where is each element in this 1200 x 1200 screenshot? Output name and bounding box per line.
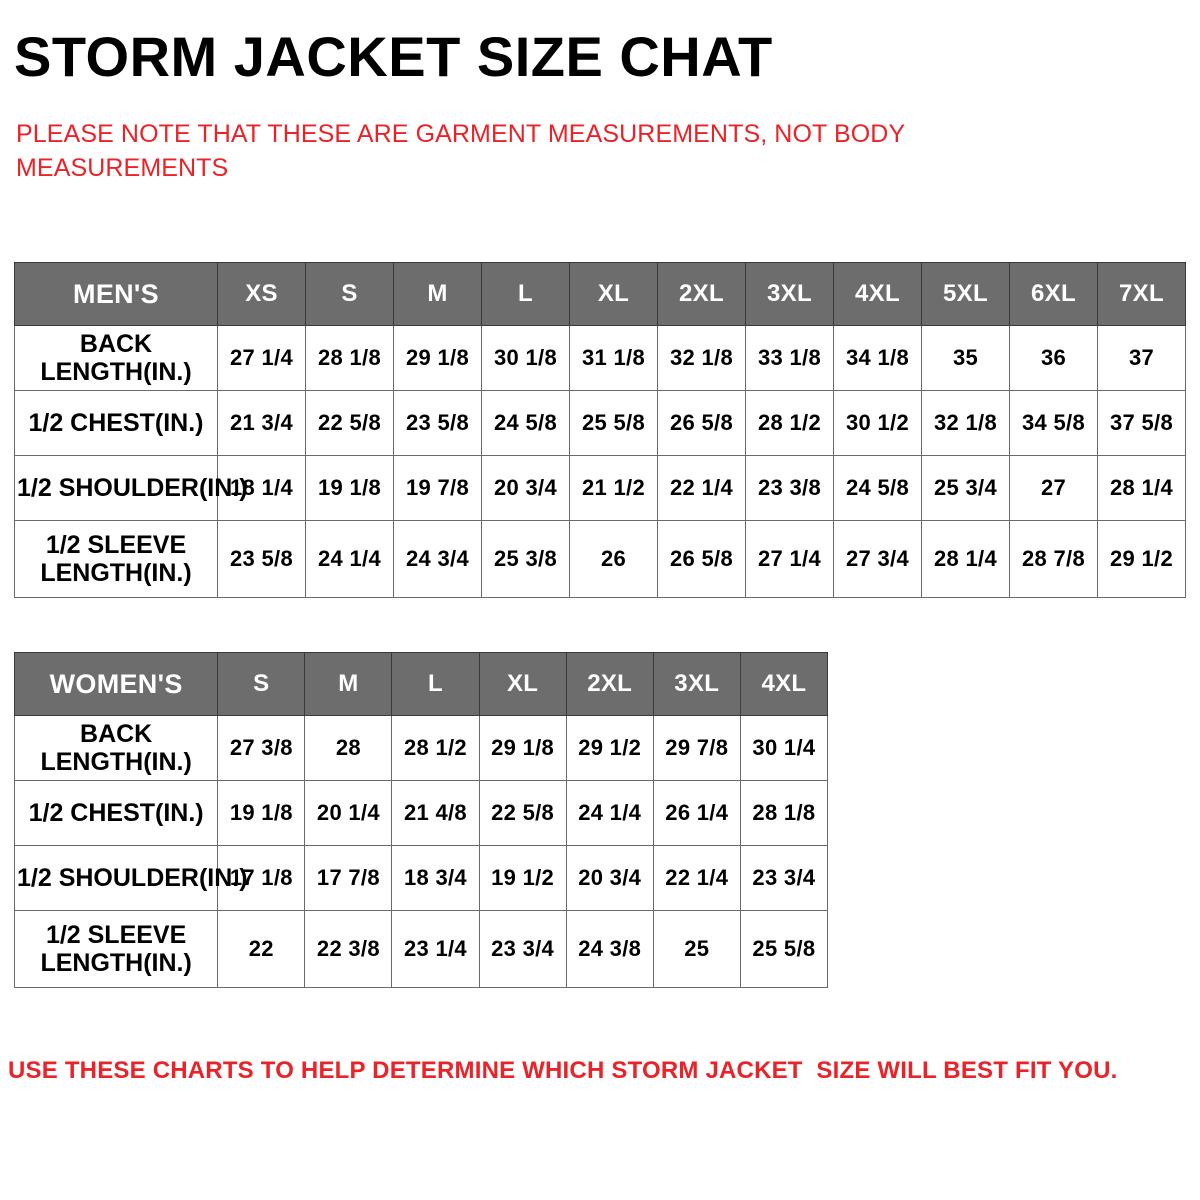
- measurement-cell: 27 3/4: [834, 521, 922, 598]
- measurement-cell: 36: [1010, 326, 1098, 391]
- size-column-header: L: [482, 263, 570, 326]
- measurement-cell: 24 1/4: [306, 521, 394, 598]
- measurement-cell: 29 1/8: [394, 326, 482, 391]
- measurement-row-label: BACKLENGTH(IN.): [15, 326, 218, 391]
- measurement-row-label-line: 1/2 CHEST(IN.): [29, 799, 204, 827]
- measurement-cell: 35: [922, 326, 1010, 391]
- measurement-cell: 28 1/2: [746, 391, 834, 456]
- footer-guidance-note: USE THESE CHARTS TO HELP DETERMINE WHICH…: [8, 1057, 1188, 1085]
- measurement-cell: 22 1/4: [653, 846, 740, 911]
- size-chart-page: STORM JACKET SIZE CHAT PLEASE NOTE THAT …: [0, 0, 1200, 1200]
- table-row: 1/2 CHEST(IN.)19 1/820 1/421 4/822 5/824…: [15, 781, 828, 846]
- measurement-cell: 22 1/4: [658, 456, 746, 521]
- measurement-cell: 26 5/8: [658, 521, 746, 598]
- measurement-cell: 21 3/4: [218, 391, 306, 456]
- measurement-cell: 24 5/8: [482, 391, 570, 456]
- measurement-cell: 26 1/4: [653, 781, 740, 846]
- measurement-cell: 30 1/4: [740, 716, 827, 781]
- measurement-cell: 26: [570, 521, 658, 598]
- size-column-header: M: [305, 653, 392, 716]
- measurement-cell: 29 7/8: [653, 716, 740, 781]
- measurement-cell: 25 3/8: [482, 521, 570, 598]
- measurement-cell: 22: [218, 911, 305, 988]
- measurement-cell: 29 1/2: [566, 716, 653, 781]
- measurement-cell: 31 1/8: [570, 326, 658, 391]
- measurement-cell: 19 1/8: [218, 781, 305, 846]
- table-row: BACKLENGTH(IN.)27 3/82828 1/229 1/829 1/…: [15, 716, 828, 781]
- size-column-header: 3XL: [746, 263, 834, 326]
- measurement-cell: 24 1/4: [566, 781, 653, 846]
- table-row: 1/2 SHOULDER(IN.)18 1/419 1/819 7/820 3/…: [15, 456, 1186, 521]
- measurement-cell: 25 5/8: [740, 911, 827, 988]
- size-column-header: S: [218, 653, 305, 716]
- measurement-cell: 23 3/8: [746, 456, 834, 521]
- measurement-cell: 23 3/4: [479, 911, 566, 988]
- size-column-header: 2XL: [566, 653, 653, 716]
- measurement-cell: 17 7/8: [305, 846, 392, 911]
- measurement-row-label-line: BACK: [80, 720, 152, 748]
- measurement-cell: 19 1/8: [306, 456, 394, 521]
- measurement-cell: 28 1/8: [740, 781, 827, 846]
- womens-table-header: WOMEN'SSMLXL2XL3XL4XL: [15, 653, 828, 716]
- measurement-cell: 29 1/2: [1098, 521, 1186, 598]
- size-column-header: 7XL: [1098, 263, 1186, 326]
- measurement-row-label-line: 1/2 SHOULDER(IN.): [17, 474, 248, 502]
- measurement-cell: 20 3/4: [566, 846, 653, 911]
- measurement-cell: 20 1/4: [305, 781, 392, 846]
- mens-table-header: MEN'SXSSMLXL2XL3XL4XL5XL6XL7XL: [15, 263, 1186, 326]
- measurement-cell: 28 7/8: [1010, 521, 1098, 598]
- measurement-cell: 27 3/8: [218, 716, 305, 781]
- measurement-cell: 27 1/4: [746, 521, 834, 598]
- measurement-cell: 21 1/2: [570, 456, 658, 521]
- measurement-cell: 32 1/8: [922, 391, 1010, 456]
- measurement-cell: 37 5/8: [1098, 391, 1186, 456]
- measurement-cell: 25 5/8: [570, 391, 658, 456]
- measurement-row-label: 1/2 CHEST(IN.): [15, 781, 218, 846]
- size-column-header: 2XL: [658, 263, 746, 326]
- measurement-row-label-line: LENGTH(IN.): [40, 358, 191, 386]
- garment-measurement-note: PLEASE NOTE THAT THESE ARE GARMENT MEASU…: [16, 118, 1016, 186]
- measurement-cell: 18 3/4: [392, 846, 479, 911]
- measurement-row-label-line: 1/2 SLEEVE: [46, 531, 186, 559]
- measurement-row-label-line: BACK: [80, 330, 152, 358]
- size-column-header: L: [392, 653, 479, 716]
- measurement-cell: 18 1/4: [218, 456, 306, 521]
- size-column-header: XL: [570, 263, 658, 326]
- measurement-cell: 28 1/4: [1098, 456, 1186, 521]
- measurement-cell: 28 1/8: [306, 326, 394, 391]
- measurement-cell: 37: [1098, 326, 1186, 391]
- measurement-cell: 17 1/8: [218, 846, 305, 911]
- measurement-cell: 24 5/8: [834, 456, 922, 521]
- measurement-row-label: 1/2 CHEST(IN.): [15, 391, 218, 456]
- measurement-cell: 28 1/2: [392, 716, 479, 781]
- measurement-cell: 22 3/8: [305, 911, 392, 988]
- measurement-row-label-line: 1/2 SLEEVE: [46, 921, 186, 949]
- size-column-header: XS: [218, 263, 306, 326]
- measurement-cell: 25: [653, 911, 740, 988]
- measurement-cell: 20 3/4: [482, 456, 570, 521]
- measurement-cell: 27: [1010, 456, 1098, 521]
- measurement-row-label: 1/2 SLEEVELENGTH(IN.): [15, 911, 218, 988]
- size-column-header: 3XL: [653, 653, 740, 716]
- page-title: STORM JACKET SIZE CHAT: [14, 26, 773, 88]
- size-column-header: 5XL: [922, 263, 1010, 326]
- measurement-cell: 23 3/4: [740, 846, 827, 911]
- measurement-cell: 23 5/8: [218, 521, 306, 598]
- table-row: 1/2 SLEEVELENGTH(IN.)23 5/824 1/424 3/42…: [15, 521, 1186, 598]
- measurement-cell: 22 5/8: [306, 391, 394, 456]
- womens-size-table: WOMEN'SSMLXL2XL3XL4XL BACKLENGTH(IN.)27 …: [14, 652, 828, 988]
- measurement-cell: 28 1/4: [922, 521, 1010, 598]
- size-column-header: 4XL: [740, 653, 827, 716]
- table-row: BACKLENGTH(IN.)27 1/428 1/829 1/830 1/83…: [15, 326, 1186, 391]
- measurement-cell: 21 4/8: [392, 781, 479, 846]
- measurement-cell: 34 5/8: [1010, 391, 1098, 456]
- measurement-cell: 24 3/4: [394, 521, 482, 598]
- measurement-cell: 24 3/8: [566, 911, 653, 988]
- size-column-header: 6XL: [1010, 263, 1098, 326]
- measurement-cell: 25 3/4: [922, 456, 1010, 521]
- measurement-row-label-line: 1/2 SHOULDER(IN.): [17, 864, 248, 892]
- size-column-header: 4XL: [834, 263, 922, 326]
- measurement-cell: 33 1/8: [746, 326, 834, 391]
- measurement-cell: 32 1/8: [658, 326, 746, 391]
- size-column-header: M: [394, 263, 482, 326]
- measurement-cell: 26 5/8: [658, 391, 746, 456]
- measurement-cell: 22 5/8: [479, 781, 566, 846]
- measurement-row-label-line: LENGTH(IN.): [40, 559, 191, 587]
- table-row: 1/2 CHEST(IN.)21 3/422 5/823 5/824 5/825…: [15, 391, 1186, 456]
- measurement-cell: 19 1/2: [479, 846, 566, 911]
- womens-table-body: BACKLENGTH(IN.)27 3/82828 1/229 1/829 1/…: [15, 716, 828, 988]
- measurement-cell: 23 5/8: [394, 391, 482, 456]
- measurement-cell: 30 1/2: [834, 391, 922, 456]
- measurement-row-label-line: LENGTH(IN.): [40, 748, 191, 776]
- measurement-row-label-line: LENGTH(IN.): [40, 949, 191, 977]
- size-column-header: S: [306, 263, 394, 326]
- measurement-cell: 30 1/8: [482, 326, 570, 391]
- measurement-cell: 29 1/8: [479, 716, 566, 781]
- measurement-cell: 23 1/4: [392, 911, 479, 988]
- category-header-women: WOMEN'S: [15, 653, 218, 716]
- size-column-header: XL: [479, 653, 566, 716]
- table-row: 1/2 SHOULDER(IN.)17 1/817 7/818 3/419 1/…: [15, 846, 828, 911]
- category-header-men: MEN'S: [15, 263, 218, 326]
- measurement-row-label: 1/2 SHOULDER(IN.): [15, 846, 218, 911]
- measurement-row-label: BACKLENGTH(IN.): [15, 716, 218, 781]
- table-row: 1/2 SLEEVELENGTH(IN.)2222 3/823 1/423 3/…: [15, 911, 828, 988]
- table-header-row: WOMEN'SSMLXL2XL3XL4XL: [15, 653, 828, 716]
- measurement-row-label: 1/2 SLEEVELENGTH(IN.): [15, 521, 218, 598]
- mens-size-table: MEN'SXSSMLXL2XL3XL4XL5XL6XL7XL BACKLENGT…: [14, 262, 1186, 598]
- measurement-row-label: 1/2 SHOULDER(IN.): [15, 456, 218, 521]
- table-header-row: MEN'SXSSMLXL2XL3XL4XL5XL6XL7XL: [15, 263, 1186, 326]
- measurement-cell: 27 1/4: [218, 326, 306, 391]
- mens-table-body: BACKLENGTH(IN.)27 1/428 1/829 1/830 1/83…: [15, 326, 1186, 598]
- measurement-cell: 28: [305, 716, 392, 781]
- measurement-row-label-line: 1/2 CHEST(IN.): [28, 409, 203, 437]
- measurement-cell: 34 1/8: [834, 326, 922, 391]
- measurement-cell: 19 7/8: [394, 456, 482, 521]
